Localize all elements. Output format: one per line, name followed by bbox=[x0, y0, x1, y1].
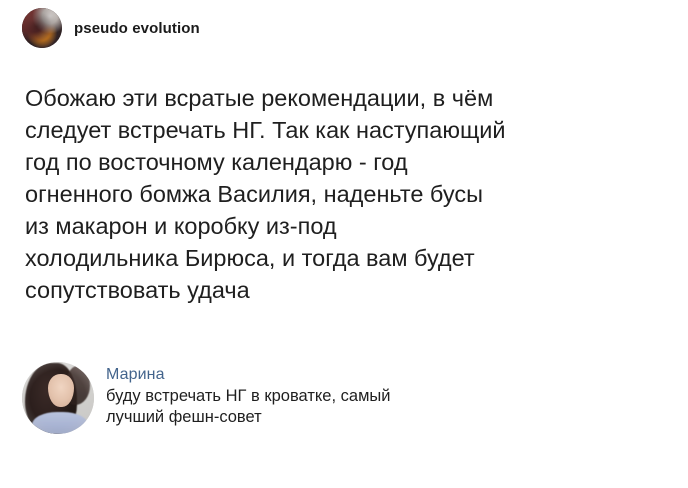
post-text-line: из макарон и коробку из-под bbox=[25, 210, 665, 242]
comment-item: Марина буду встречать НГ в кроватке, сам… bbox=[22, 362, 391, 434]
post-header: pseudo evolution bbox=[22, 8, 200, 48]
comment-content: Марина буду встречать НГ в кроватке, сам… bbox=[106, 362, 391, 428]
comment-text-line: лучший фешн-совет bbox=[106, 407, 391, 428]
post-author-name[interactable]: pseudo evolution bbox=[74, 20, 200, 37]
post-text-line: огненного бомжа Василия, наденьте бусы bbox=[25, 178, 665, 210]
comment-text-line: буду встречать НГ в кроватке, самый bbox=[106, 386, 391, 407]
commenter-avatar-vignette bbox=[22, 362, 94, 434]
post-text-line: холодильника Бирюса, и тогда вам будет bbox=[25, 242, 665, 274]
post-text-line: сопутствовать удача bbox=[25, 274, 665, 306]
author-avatar-shading bbox=[22, 8, 62, 48]
social-post-screenshot: pseudo evolution Обожаю эти всратые реко… bbox=[0, 0, 688, 488]
comment-author-avatar[interactable] bbox=[22, 362, 94, 434]
post-text-line: следует встречать НГ. Так как наступающи… bbox=[25, 114, 665, 146]
post-body: Обожаю эти всратые рекомендации, в чём с… bbox=[25, 82, 665, 306]
post-text-line: Обожаю эти всратые рекомендации, в чём bbox=[25, 82, 665, 114]
author-avatar[interactable] bbox=[22, 8, 62, 48]
post-text-line: год по восточному календарю - год bbox=[25, 146, 665, 178]
comment-author-name[interactable]: Марина bbox=[106, 364, 391, 386]
